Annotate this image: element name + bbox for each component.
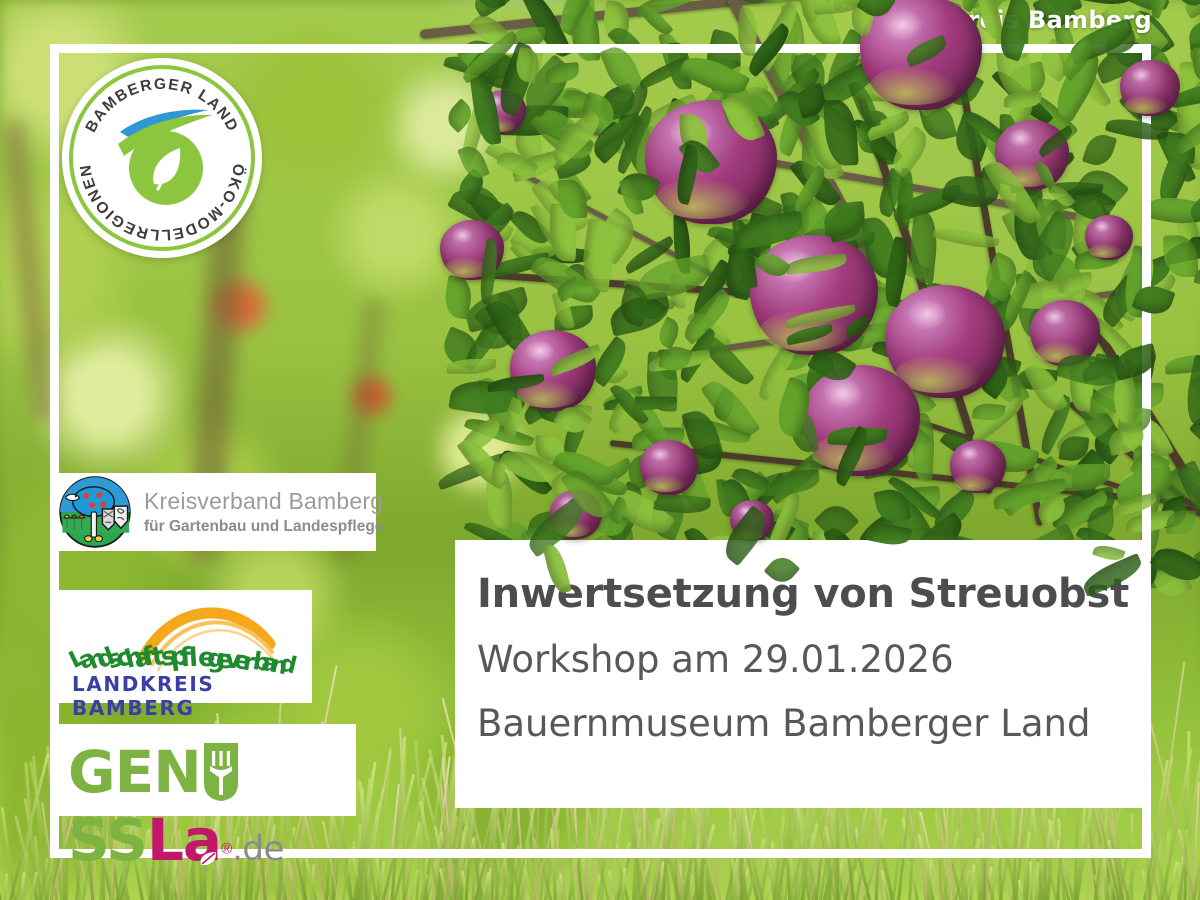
- apple-highlight: [1008, 128, 1033, 147]
- logo-genussla: GEN SSLa®.de: [56, 724, 356, 816]
- tree-leaf-foreground: [1166, 510, 1196, 536]
- apple-fruit: [640, 440, 698, 495]
- event-date-line: Workshop am 29.01.2026: [477, 641, 1151, 678]
- apple-fruit: [1120, 60, 1180, 116]
- apple-blush: [656, 177, 751, 219]
- apple-highlight: [1043, 308, 1067, 326]
- tree-leaf: [1081, 131, 1117, 170]
- grass-blade: [1130, 813, 1134, 900]
- apple-blush: [1125, 95, 1168, 114]
- seal-graphic: BAMBERGER LAND ÖKO-MODELLREGIONEN: [62, 58, 262, 258]
- apple-highlight: [525, 340, 554, 363]
- apple-tree-canopy: [430, 0, 1200, 590]
- landschaftspflegeverband-script: Landschaftspflegeverband: [64, 614, 304, 676]
- logo-landschaftspflegeverband: Landschaftspflegeverband LANDKREIS BAMBE…: [56, 590, 312, 703]
- apple-highlight: [907, 299, 948, 331]
- fork-icon: [201, 743, 241, 803]
- oeko-modellregionen-seal: BAMBERGER LAND ÖKO-MODELLREGIONEN: [62, 58, 262, 258]
- apple-highlight: [882, 9, 923, 41]
- grass-blade: [1029, 861, 1033, 900]
- apple-fruit: [802, 365, 920, 476]
- kreisverband-text: Kreisverband Bamberg für Gartenbau und L…: [144, 488, 383, 535]
- genussla-part3: La: [147, 806, 221, 874]
- kreisverband-line1: Kreisverband Bamberg: [144, 488, 383, 514]
- apple-highlight: [452, 227, 474, 244]
- apple-highlight: [1131, 67, 1151, 83]
- genussla-part2: SS: [68, 806, 147, 874]
- apple-fruit: [950, 440, 1006, 493]
- apple-highlight: [650, 447, 670, 462]
- genussla-part1: GEN: [68, 738, 201, 806]
- landschaftspflegeverband-subtitle: LANDKREIS BAMBERG: [72, 672, 312, 720]
- grass-blade: [1177, 862, 1181, 900]
- garden-emblem-icon: [58, 475, 132, 549]
- event-title: Inwertsetzung von Streuobst: [477, 574, 1151, 614]
- apple-blush: [645, 474, 687, 493]
- genussla-registered: ®: [221, 841, 232, 858]
- apple-highlight: [1094, 220, 1110, 233]
- kreisverband-line2: für Gartenbau und Landespflege: [144, 518, 383, 536]
- genussla-suffix: .de: [232, 829, 284, 869]
- apple-blush: [870, 66, 958, 105]
- apple-fruit: [1085, 215, 1133, 260]
- apple-blush: [954, 473, 994, 491]
- grass-blade: [2, 873, 8, 900]
- genussla-wordmark: GEN SSLa®.de: [68, 738, 356, 874]
- logo-kreisverband-bamberg: Kreisverband Bamberg für Gartenbau und L…: [56, 473, 376, 551]
- apple-highlight: [960, 446, 979, 461]
- tree-leaf: [1188, 20, 1200, 50]
- leaf-icon: [198, 850, 218, 868]
- tree-leaf-foreground: [600, 42, 644, 97]
- tree-leaf: [447, 359, 496, 374]
- event-venue-line: Bauernmuseum Bamberger Land: [477, 705, 1151, 742]
- poster: Landkreis Bamberg BAMBERGER LAND ÖKO-MOD…: [0, 0, 1200, 900]
- apple-blush: [1089, 243, 1124, 258]
- apple-highlight: [823, 378, 863, 409]
